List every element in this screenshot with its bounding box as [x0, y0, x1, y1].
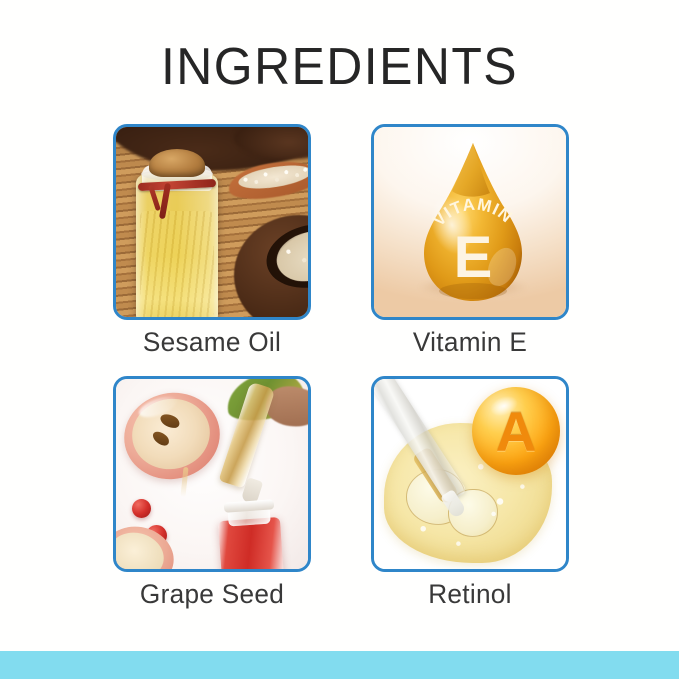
vitamin-e-droplet-icon: VITAMIN E [416, 141, 530, 307]
retinol-image-frame[interactable]: A [371, 376, 569, 572]
page-title: INGREDIENTS [14, 38, 666, 96]
oil-texture [140, 211, 214, 317]
sesame-oil-photo [116, 127, 308, 317]
cork-stopper [149, 149, 205, 177]
grape-seed-image-frame[interactable] [113, 376, 311, 572]
ingredient-label-vitamin-e: Vitamin E [374, 320, 566, 364]
red-berry-1 [132, 499, 151, 518]
ingredients-panel: INGREDIENTS [0, 0, 679, 679]
ingredient-card-retinol[interactable]: A Retinol [371, 376, 569, 616]
ingredients-grid: Sesame Oil [113, 124, 569, 616]
ingredient-card-sesame-oil[interactable]: Sesame Oil [113, 124, 311, 364]
vitamin-e-image-frame[interactable]: VITAMIN E [371, 124, 569, 320]
bottom-accent-bar [0, 651, 679, 679]
ingredient-label-sesame-oil: Sesame Oil [116, 320, 308, 364]
svg-text:E: E [454, 225, 493, 290]
ingredient-label-grape-seed: Grape Seed [116, 572, 308, 616]
ingredient-card-grape-seed[interactable]: Grape Seed [113, 376, 311, 616]
retinol-illustration: A [374, 379, 566, 569]
ingredient-label-retinol: Retinol [374, 572, 566, 616]
grape-seed-photo [116, 379, 308, 569]
vitamin-e-illustration: VITAMIN E [374, 127, 566, 317]
sesame-oil-image-frame[interactable] [113, 124, 311, 320]
ingredient-card-vitamin-e[interactable]: VITAMIN E Vitamin E [371, 124, 569, 364]
